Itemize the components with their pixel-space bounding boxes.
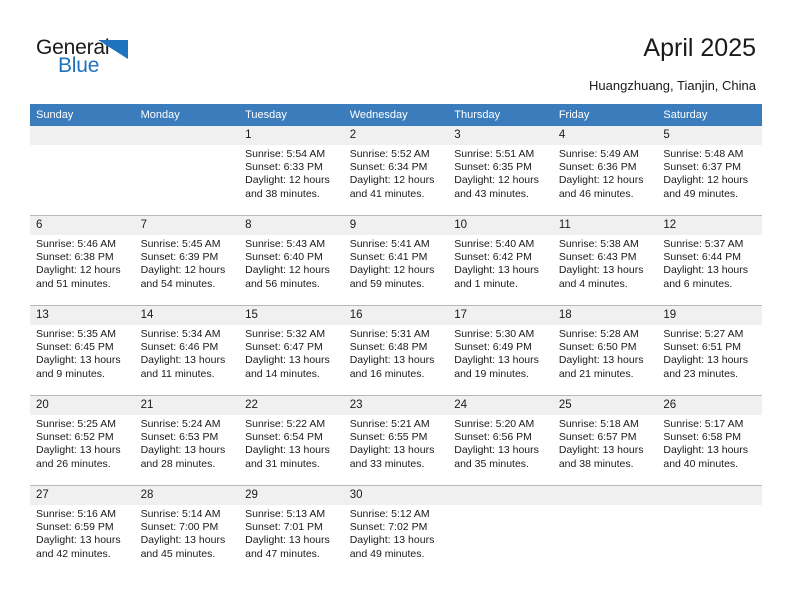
sunset-line: Sunset: 6:56 PM <box>454 431 547 444</box>
daylight-line-2: and 41 minutes. <box>350 188 443 201</box>
sunset-line: Sunset: 7:02 PM <box>350 521 443 534</box>
sunset-line: Sunset: 6:47 PM <box>245 341 338 354</box>
daylight-line-1: Daylight: 13 hours <box>141 534 234 547</box>
daylight-line-2: and 19 minutes. <box>454 368 547 381</box>
sunrise-line: Sunrise: 5:22 AM <box>245 418 338 431</box>
day-details: Sunrise: 5:18 AMSunset: 6:57 PMDaylight:… <box>553 415 658 471</box>
daylight-line-2: and 40 minutes. <box>663 458 756 471</box>
daylight-line-2: and 59 minutes. <box>350 278 443 291</box>
day-details: Sunrise: 5:34 AMSunset: 6:46 PMDaylight:… <box>135 325 240 381</box>
calendar-day-cell[interactable]: 5Sunrise: 5:48 AMSunset: 6:37 PMDaylight… <box>657 126 762 216</box>
daylight-line-2: and 16 minutes. <box>350 368 443 381</box>
daylight-line-1: Daylight: 13 hours <box>245 354 338 367</box>
daylight-line-1: Daylight: 13 hours <box>454 264 547 277</box>
sunset-line: Sunset: 7:01 PM <box>245 521 338 534</box>
daylight-line-1: Daylight: 13 hours <box>245 534 338 547</box>
day-details: Sunrise: 5:35 AMSunset: 6:45 PMDaylight:… <box>30 325 135 381</box>
daylight-line-2: and 26 minutes. <box>36 458 129 471</box>
day-number: 28 <box>135 486 240 505</box>
daylight-line-1: Daylight: 13 hours <box>663 264 756 277</box>
day-details: Sunrise: 5:30 AMSunset: 6:49 PMDaylight:… <box>448 325 553 381</box>
day-number: 7 <box>135 216 240 235</box>
weekday-header-thursday: Thursday <box>448 104 553 126</box>
sunrise-line: Sunrise: 5:35 AM <box>36 328 129 341</box>
day-number: 2 <box>344 126 449 145</box>
day-number: 5 <box>657 126 762 145</box>
sunrise-line: Sunrise: 5:48 AM <box>663 148 756 161</box>
calendar-day-cell[interactable]: 20Sunrise: 5:25 AMSunset: 6:52 PMDayligh… <box>30 396 135 486</box>
daylight-line-2: and 51 minutes. <box>36 278 129 291</box>
daylight-line-2: and 49 minutes. <box>350 548 443 561</box>
sunrise-line: Sunrise: 5:32 AM <box>245 328 338 341</box>
daylight-line-2: and 35 minutes. <box>454 458 547 471</box>
logo-triangle-icon <box>98 40 128 59</box>
sunrise-line: Sunrise: 5:28 AM <box>559 328 652 341</box>
calendar-day-cell[interactable]: 7Sunrise: 5:45 AMSunset: 6:39 PMDaylight… <box>135 216 240 306</box>
sunset-line: Sunset: 6:35 PM <box>454 161 547 174</box>
weekday-header-friday: Friday <box>553 104 658 126</box>
sunset-line: Sunset: 6:33 PM <box>245 161 338 174</box>
day-number: 16 <box>344 306 449 325</box>
day-number: 22 <box>239 396 344 415</box>
sunrise-line: Sunrise: 5:25 AM <box>36 418 129 431</box>
day-number <box>448 486 553 505</box>
sunset-line: Sunset: 6:42 PM <box>454 251 547 264</box>
calendar-week-row: 20Sunrise: 5:25 AMSunset: 6:52 PMDayligh… <box>30 396 762 486</box>
day-details: Sunrise: 5:43 AMSunset: 6:40 PMDaylight:… <box>239 235 344 291</box>
daylight-line-2: and 45 minutes. <box>141 548 234 561</box>
sunrise-line: Sunrise: 5:38 AM <box>559 238 652 251</box>
sunset-line: Sunset: 6:44 PM <box>663 251 756 264</box>
daylight-line-1: Daylight: 13 hours <box>350 444 443 457</box>
calendar-day-cell[interactable]: 21Sunrise: 5:24 AMSunset: 6:53 PMDayligh… <box>135 396 240 486</box>
day-details: Sunrise: 5:46 AMSunset: 6:38 PMDaylight:… <box>30 235 135 291</box>
sunrise-line: Sunrise: 5:30 AM <box>454 328 547 341</box>
calendar-day-cell[interactable]: 30Sunrise: 5:12 AMSunset: 7:02 PMDayligh… <box>344 486 449 576</box>
calendar-day-cell-empty <box>657 486 762 576</box>
sunrise-line: Sunrise: 5:17 AM <box>663 418 756 431</box>
daylight-line-2: and 1 minute. <box>454 278 547 291</box>
sunrise-line: Sunrise: 5:37 AM <box>663 238 756 251</box>
sunset-line: Sunset: 6:37 PM <box>663 161 756 174</box>
sunrise-line: Sunrise: 5:27 AM <box>663 328 756 341</box>
sunset-line: Sunset: 6:51 PM <box>663 341 756 354</box>
sunrise-line: Sunrise: 5:51 AM <box>454 148 547 161</box>
calendar-day-cell[interactable]: 24Sunrise: 5:20 AMSunset: 6:56 PMDayligh… <box>448 396 553 486</box>
calendar-day-cell[interactable]: 19Sunrise: 5:27 AMSunset: 6:51 PMDayligh… <box>657 306 762 396</box>
daylight-line-2: and 46 minutes. <box>559 188 652 201</box>
calendar-day-cell[interactable]: 18Sunrise: 5:28 AMSunset: 6:50 PMDayligh… <box>553 306 658 396</box>
sunset-line: Sunset: 6:43 PM <box>559 251 652 264</box>
sunset-line: Sunset: 6:41 PM <box>350 251 443 264</box>
day-number: 27 <box>30 486 135 505</box>
day-details: Sunrise: 5:32 AMSunset: 6:47 PMDaylight:… <box>239 325 344 381</box>
daylight-line-1: Daylight: 13 hours <box>559 444 652 457</box>
calendar-week-row: 6Sunrise: 5:46 AMSunset: 6:38 PMDaylight… <box>30 216 762 306</box>
day-number <box>553 486 658 505</box>
calendar-day-cell[interactable]: 11Sunrise: 5:38 AMSunset: 6:43 PMDayligh… <box>553 216 658 306</box>
daylight-line-2: and 49 minutes. <box>663 188 756 201</box>
page-title: April 2025 <box>643 34 756 63</box>
day-number: 19 <box>657 306 762 325</box>
day-number: 4 <box>553 126 658 145</box>
weekday-header-tuesday: Tuesday <box>239 104 344 126</box>
daylight-line-1: Daylight: 12 hours <box>245 174 338 187</box>
daylight-line-1: Daylight: 13 hours <box>141 444 234 457</box>
daylight-line-2: and 56 minutes. <box>245 278 338 291</box>
sunrise-line: Sunrise: 5:24 AM <box>141 418 234 431</box>
daylight-line-2: and 42 minutes. <box>36 548 129 561</box>
day-number <box>135 126 240 145</box>
day-details: Sunrise: 5:13 AMSunset: 7:01 PMDaylight:… <box>239 505 344 561</box>
daylight-line-2: and 38 minutes. <box>559 458 652 471</box>
sunrise-line: Sunrise: 5:21 AM <box>350 418 443 431</box>
daylight-line-2: and 9 minutes. <box>36 368 129 381</box>
day-details: Sunrise: 5:48 AMSunset: 6:37 PMDaylight:… <box>657 145 762 201</box>
day-details: Sunrise: 5:40 AMSunset: 6:42 PMDaylight:… <box>448 235 553 291</box>
day-number: 24 <box>448 396 553 415</box>
daylight-line-1: Daylight: 12 hours <box>559 174 652 187</box>
daylight-line-1: Daylight: 12 hours <box>141 264 234 277</box>
day-number: 6 <box>30 216 135 235</box>
sunset-line: Sunset: 6:39 PM <box>141 251 234 264</box>
day-details: Sunrise: 5:31 AMSunset: 6:48 PMDaylight:… <box>344 325 449 381</box>
sunset-line: Sunset: 6:48 PM <box>350 341 443 354</box>
sunset-line: Sunset: 6:36 PM <box>559 161 652 174</box>
sunset-line: Sunset: 6:53 PM <box>141 431 234 444</box>
daylight-line-1: Daylight: 12 hours <box>245 264 338 277</box>
day-number: 12 <box>657 216 762 235</box>
day-number: 25 <box>553 396 658 415</box>
calendar-day-cell-empty <box>448 486 553 576</box>
daylight-line-1: Daylight: 13 hours <box>36 354 129 367</box>
day-number <box>657 486 762 505</box>
day-number: 11 <box>553 216 658 235</box>
daylight-line-1: Daylight: 13 hours <box>663 444 756 457</box>
calendar-day-cell[interactable]: 26Sunrise: 5:17 AMSunset: 6:58 PMDayligh… <box>657 396 762 486</box>
day-details: Sunrise: 5:49 AMSunset: 6:36 PMDaylight:… <box>553 145 658 201</box>
calendar-day-cell[interactable]: 25Sunrise: 5:18 AMSunset: 6:57 PMDayligh… <box>553 396 658 486</box>
calendar-day-cell[interactable]: 8Sunrise: 5:43 AMSunset: 6:40 PMDaylight… <box>239 216 344 306</box>
calendar-day-cell[interactable]: 17Sunrise: 5:30 AMSunset: 6:49 PMDayligh… <box>448 306 553 396</box>
sunset-line: Sunset: 6:55 PM <box>350 431 443 444</box>
day-number: 10 <box>448 216 553 235</box>
location-subtitle: Huangzhuang, Tianjin, China <box>589 78 756 93</box>
calendar-day-cell[interactable]: 3Sunrise: 5:51 AMSunset: 6:35 PMDaylight… <box>448 126 553 216</box>
sunrise-line: Sunrise: 5:40 AM <box>454 238 547 251</box>
day-number: 3 <box>448 126 553 145</box>
day-details: Sunrise: 5:45 AMSunset: 6:39 PMDaylight:… <box>135 235 240 291</box>
daylight-line-1: Daylight: 12 hours <box>350 174 443 187</box>
calendar-week-row: 1Sunrise: 5:54 AMSunset: 6:33 PMDaylight… <box>30 126 762 216</box>
sunrise-line: Sunrise: 5:34 AM <box>141 328 234 341</box>
sunset-line: Sunset: 6:49 PM <box>454 341 547 354</box>
sunset-line: Sunset: 6:59 PM <box>36 521 129 534</box>
sunset-line: Sunset: 6:46 PM <box>141 341 234 354</box>
day-details: Sunrise: 5:52 AMSunset: 6:34 PMDaylight:… <box>344 145 449 201</box>
weekday-header-sunday: Sunday <box>30 104 135 126</box>
daylight-line-2: and 31 minutes. <box>245 458 338 471</box>
day-number: 8 <box>239 216 344 235</box>
weekday-header-monday: Monday <box>135 104 240 126</box>
day-details: Sunrise: 5:22 AMSunset: 6:54 PMDaylight:… <box>239 415 344 471</box>
calendar-day-cell[interactable]: 1Sunrise: 5:54 AMSunset: 6:33 PMDaylight… <box>239 126 344 216</box>
calendar-day-cell[interactable]: 27Sunrise: 5:16 AMSunset: 6:59 PMDayligh… <box>30 486 135 576</box>
calendar-day-cell[interactable]: 22Sunrise: 5:22 AMSunset: 6:54 PMDayligh… <box>239 396 344 486</box>
daylight-line-1: Daylight: 13 hours <box>36 534 129 547</box>
calendar-week-row: 27Sunrise: 5:16 AMSunset: 6:59 PMDayligh… <box>30 486 762 576</box>
calendar-body: 1Sunrise: 5:54 AMSunset: 6:33 PMDaylight… <box>30 126 762 575</box>
day-number: 30 <box>344 486 449 505</box>
daylight-line-2: and 14 minutes. <box>245 368 338 381</box>
calendar-header-row: Sunday Monday Tuesday Wednesday Thursday… <box>30 104 762 126</box>
sunrise-line: Sunrise: 5:18 AM <box>559 418 652 431</box>
day-details: Sunrise: 5:38 AMSunset: 6:43 PMDaylight:… <box>553 235 658 291</box>
sunset-line: Sunset: 6:52 PM <box>36 431 129 444</box>
calendar-day-cell[interactable]: 2Sunrise: 5:52 AMSunset: 6:34 PMDaylight… <box>344 126 449 216</box>
daylight-line-1: Daylight: 12 hours <box>350 264 443 277</box>
calendar-day-cell[interactable]: 12Sunrise: 5:37 AMSunset: 6:44 PMDayligh… <box>657 216 762 306</box>
daylight-line-2: and 21 minutes. <box>559 368 652 381</box>
sunrise-line: Sunrise: 5:46 AM <box>36 238 129 251</box>
day-number: 18 <box>553 306 658 325</box>
daylight-line-1: Daylight: 13 hours <box>454 354 547 367</box>
sunrise-line: Sunrise: 5:13 AM <box>245 508 338 521</box>
day-number: 1 <box>239 126 344 145</box>
day-details: Sunrise: 5:24 AMSunset: 6:53 PMDaylight:… <box>135 415 240 471</box>
daylight-line-1: Daylight: 12 hours <box>36 264 129 277</box>
day-details: Sunrise: 5:25 AMSunset: 6:52 PMDaylight:… <box>30 415 135 471</box>
daylight-line-2: and 6 minutes. <box>663 278 756 291</box>
day-details: Sunrise: 5:27 AMSunset: 6:51 PMDaylight:… <box>657 325 762 381</box>
sunset-line: Sunset: 7:00 PM <box>141 521 234 534</box>
daylight-line-1: Daylight: 13 hours <box>559 354 652 367</box>
calendar-page: General Blue April 2025 Huangzhuang, Tia… <box>0 0 792 612</box>
day-number: 20 <box>30 396 135 415</box>
sunset-line: Sunset: 6:58 PM <box>663 431 756 444</box>
daylight-line-1: Daylight: 13 hours <box>663 354 756 367</box>
calendar-day-cell[interactable]: 23Sunrise: 5:21 AMSunset: 6:55 PMDayligh… <box>344 396 449 486</box>
sunrise-line: Sunrise: 5:20 AM <box>454 418 547 431</box>
daylight-line-2: and 47 minutes. <box>245 548 338 561</box>
sunrise-line: Sunrise: 5:52 AM <box>350 148 443 161</box>
calendar-day-cell[interactable]: 28Sunrise: 5:14 AMSunset: 7:00 PMDayligh… <box>135 486 240 576</box>
daylight-line-1: Daylight: 13 hours <box>245 444 338 457</box>
day-details: Sunrise: 5:41 AMSunset: 6:41 PMDaylight:… <box>344 235 449 291</box>
daylight-line-2: and 11 minutes. <box>141 368 234 381</box>
calendar-day-cell-empty <box>553 486 658 576</box>
daylight-line-1: Daylight: 13 hours <box>350 354 443 367</box>
weekday-header-wednesday: Wednesday <box>344 104 449 126</box>
daylight-line-2: and 4 minutes. <box>559 278 652 291</box>
day-details: Sunrise: 5:51 AMSunset: 6:35 PMDaylight:… <box>448 145 553 201</box>
day-number: 14 <box>135 306 240 325</box>
calendar-day-cell[interactable]: 10Sunrise: 5:40 AMSunset: 6:42 PMDayligh… <box>448 216 553 306</box>
daylight-line-1: Daylight: 13 hours <box>559 264 652 277</box>
daylight-line-2: and 54 minutes. <box>141 278 234 291</box>
sunset-line: Sunset: 6:40 PM <box>245 251 338 264</box>
month-calendar-table: Sunday Monday Tuesday Wednesday Thursday… <box>30 104 762 575</box>
general-blue-logo: General Blue <box>36 36 156 84</box>
page-header: General Blue April 2025 Huangzhuang, Tia… <box>0 0 792 104</box>
daylight-line-2: and 28 minutes. <box>141 458 234 471</box>
daylight-line-2: and 23 minutes. <box>663 368 756 381</box>
sunrise-line: Sunrise: 5:41 AM <box>350 238 443 251</box>
day-details: Sunrise: 5:14 AMSunset: 7:00 PMDaylight:… <box>135 505 240 561</box>
daylight-line-1: Daylight: 13 hours <box>350 534 443 547</box>
day-number: 13 <box>30 306 135 325</box>
calendar-day-cell[interactable]: 9Sunrise: 5:41 AMSunset: 6:41 PMDaylight… <box>344 216 449 306</box>
sunrise-line: Sunrise: 5:16 AM <box>36 508 129 521</box>
sunrise-line: Sunrise: 5:54 AM <box>245 148 338 161</box>
day-details: Sunrise: 5:37 AMSunset: 6:44 PMDaylight:… <box>657 235 762 291</box>
day-number: 26 <box>657 396 762 415</box>
day-details: Sunrise: 5:20 AMSunset: 6:56 PMDaylight:… <box>448 415 553 471</box>
calendar-day-cell[interactable]: 13Sunrise: 5:35 AMSunset: 6:45 PMDayligh… <box>30 306 135 396</box>
day-details: Sunrise: 5:16 AMSunset: 6:59 PMDaylight:… <box>30 505 135 561</box>
sunrise-line: Sunrise: 5:14 AM <box>141 508 234 521</box>
sunset-line: Sunset: 6:45 PM <box>36 341 129 354</box>
day-details: Sunrise: 5:28 AMSunset: 6:50 PMDaylight:… <box>553 325 658 381</box>
daylight-line-2: and 43 minutes. <box>454 188 547 201</box>
sunset-line: Sunset: 6:54 PM <box>245 431 338 444</box>
day-number: 21 <box>135 396 240 415</box>
daylight-line-1: Daylight: 13 hours <box>36 444 129 457</box>
day-number <box>30 126 135 145</box>
logo-text-blue: Blue <box>58 54 99 78</box>
sunrise-line: Sunrise: 5:12 AM <box>350 508 443 521</box>
day-number: 9 <box>344 216 449 235</box>
day-number: 23 <box>344 396 449 415</box>
day-number: 17 <box>448 306 553 325</box>
calendar-week-row: 13Sunrise: 5:35 AMSunset: 6:45 PMDayligh… <box>30 306 762 396</box>
day-details: Sunrise: 5:17 AMSunset: 6:58 PMDaylight:… <box>657 415 762 471</box>
daylight-line-1: Daylight: 12 hours <box>454 174 547 187</box>
sunrise-line: Sunrise: 5:43 AM <box>245 238 338 251</box>
weekday-header-saturday: Saturday <box>657 104 762 126</box>
daylight-line-1: Daylight: 13 hours <box>454 444 547 457</box>
day-details: Sunrise: 5:12 AMSunset: 7:02 PMDaylight:… <box>344 505 449 561</box>
sunset-line: Sunset: 6:38 PM <box>36 251 129 264</box>
calendar-day-cell[interactable]: 29Sunrise: 5:13 AMSunset: 7:01 PMDayligh… <box>239 486 344 576</box>
sunset-line: Sunset: 6:57 PM <box>559 431 652 444</box>
daylight-line-2: and 33 minutes. <box>350 458 443 471</box>
daylight-line-1: Daylight: 12 hours <box>663 174 756 187</box>
calendar-day-cell-empty <box>135 126 240 216</box>
daylight-line-1: Daylight: 13 hours <box>141 354 234 367</box>
day-number: 29 <box>239 486 344 505</box>
calendar-day-cell[interactable]: 15Sunrise: 5:32 AMSunset: 6:47 PMDayligh… <box>239 306 344 396</box>
calendar-day-cell[interactable]: 6Sunrise: 5:46 AMSunset: 6:38 PMDaylight… <box>30 216 135 306</box>
day-details: Sunrise: 5:54 AMSunset: 6:33 PMDaylight:… <box>239 145 344 201</box>
day-number: 15 <box>239 306 344 325</box>
calendar-day-cell[interactable]: 14Sunrise: 5:34 AMSunset: 6:46 PMDayligh… <box>135 306 240 396</box>
calendar-day-cell[interactable]: 16Sunrise: 5:31 AMSunset: 6:48 PMDayligh… <box>344 306 449 396</box>
calendar-day-cell-empty <box>30 126 135 216</box>
sunrise-line: Sunrise: 5:45 AM <box>141 238 234 251</box>
sunset-line: Sunset: 6:50 PM <box>559 341 652 354</box>
daylight-line-2: and 38 minutes. <box>245 188 338 201</box>
sunrise-line: Sunrise: 5:49 AM <box>559 148 652 161</box>
sunrise-line: Sunrise: 5:31 AM <box>350 328 443 341</box>
calendar-day-cell[interactable]: 4Sunrise: 5:49 AMSunset: 6:36 PMDaylight… <box>553 126 658 216</box>
day-details: Sunrise: 5:21 AMSunset: 6:55 PMDaylight:… <box>344 415 449 471</box>
sunset-line: Sunset: 6:34 PM <box>350 161 443 174</box>
